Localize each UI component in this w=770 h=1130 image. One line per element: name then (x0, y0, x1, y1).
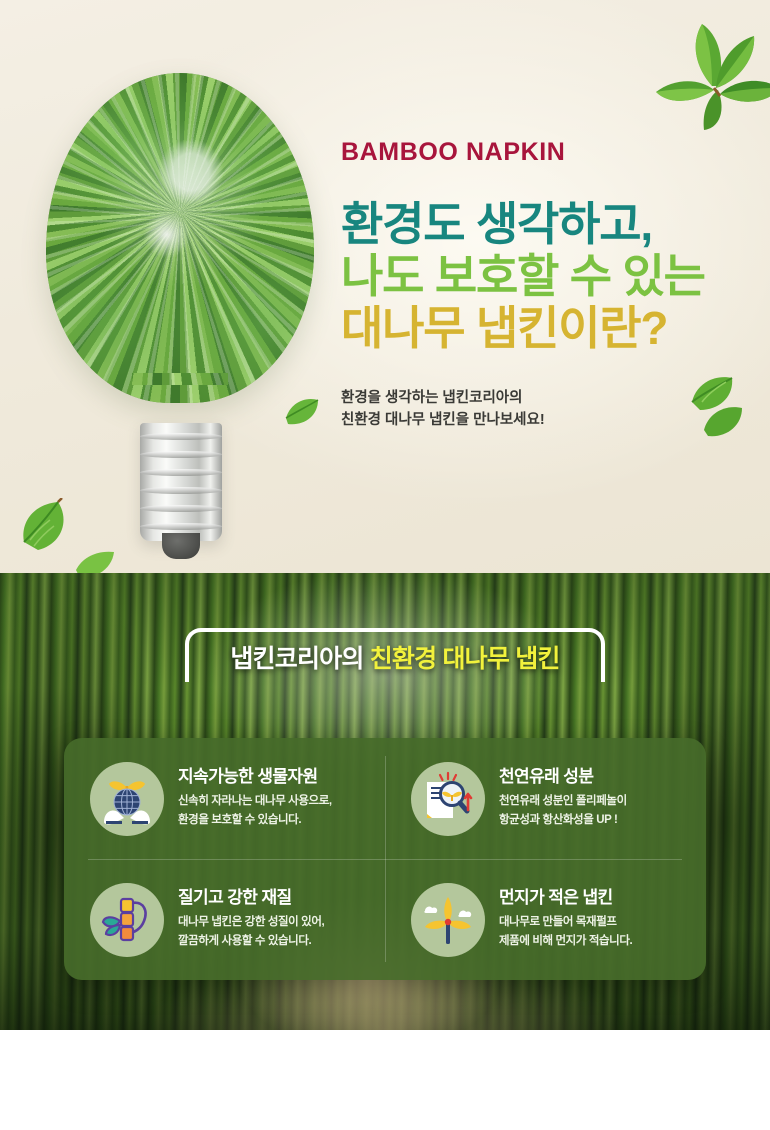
feature-desc-line-1: 대나무로 만들어 목재펄프 (499, 913, 632, 932)
feature-desc-line-2: 환경을 보호할 수 있습니다. (178, 811, 332, 830)
section-banner: 냅킨코리아의 친환경 대나무 냅킨 (185, 628, 605, 688)
grid-horizontal-divider (88, 859, 682, 860)
hero-headline: 환경도 생각하고, 나도 보호할 수 있는 대나무 냅킨이란? (341, 199, 741, 355)
feature-card-low-dust[interactable]: 먼지가 적은 냅킨 대나무로 만들어 목재펄프 제품에 비해 먼지가 적습니다. (385, 859, 706, 980)
leaf-cluster-top-right-icon (640, 0, 770, 130)
forest-canopy-photo (46, 73, 314, 403)
hero-subcopy: 환경을 생각하는 냅킨코리아의 친환경 대나무 냅킨을 만나보세요! (341, 387, 741, 432)
headline-line-1: 환경도 생각하고, (341, 199, 741, 251)
feature-title: 질기고 강한 재질 (178, 888, 324, 908)
feature-desc: 대나무 냅킨은 강한 성질이 있어, 깔끔하게 사용할 수 있습니다. (178, 913, 324, 951)
bulb-screw-base (140, 423, 222, 541)
feature-desc-line-2: 제품에 비해 먼지가 적습니다. (499, 932, 632, 951)
bulb-contact-tip (162, 533, 200, 559)
bulb-glass (46, 73, 314, 403)
feature-card-natural-ingredient[interactable]: 천연유래 성분 천연유래 성분인 폴리페놀이 항균성과 항산화성을 UP ! (385, 738, 706, 859)
feature-title: 천연유래 성분 (499, 767, 627, 787)
feature-card-body: 질기고 강한 재질 대나무 냅킨은 강한 성질이 있어, 깔끔하게 사용할 수 … (178, 888, 324, 951)
feature-desc: 대나무로 만들어 목재펄프 제품에 비해 먼지가 적습니다. (499, 913, 632, 951)
headline-line-2: 나도 보호할 수 있는 (341, 251, 741, 303)
feature-desc-line-1: 신속히 자라나는 대나무 사용으로, (178, 792, 332, 811)
product-detail-page: BAMBOO NAPKIN 환경도 생각하고, 나도 보호할 수 있는 대나무 … (0, 0, 770, 1130)
banner-title: 냅킨코리아의 친환경 대나무 냅킨 (185, 639, 605, 675)
feature-desc-line-2: 깔끔하게 사용할 수 있습니다. (178, 932, 324, 951)
feature-card-strong-material[interactable]: 질기고 강한 재질 대나무 냅킨은 강한 성질이 있어, 깔끔하게 사용할 수 … (64, 859, 385, 980)
hero-section: BAMBOO NAPKIN 환경도 생각하고, 나도 보호할 수 있는 대나무 … (0, 0, 770, 573)
subcopy-line-2: 친환경 대나무 냅킨을 만나보세요! (341, 409, 741, 431)
headline-line-3: 대나무 냅킨이란? (341, 303, 741, 355)
document-magnifier-sprout-icon (411, 762, 485, 836)
subcopy-line-1: 환경을 생각하는 냅킨코리아의 (341, 387, 741, 409)
leaf-bottom-left-icon (16, 498, 78, 554)
banner-title-highlight: 친환경 대나무 냅킨 (370, 645, 560, 673)
hero-eyebrow: BAMBOO NAPKIN (341, 140, 741, 165)
bamboo-stalk-leaf-icon (90, 883, 164, 957)
leaf-bottom-mid-icon (74, 548, 118, 573)
bamboo-lightbulb-image (28, 55, 328, 555)
feature-card-body: 지속가능한 생물자원 신속히 자라나는 대나무 사용으로, 환경을 보호할 수 … (178, 767, 332, 830)
feature-desc-line-1: 대나무 냅킨은 강한 성질이 있어, (178, 913, 324, 932)
feature-desc: 천연유래 성분인 폴리페놀이 항균성과 항산화성을 UP ! (499, 792, 627, 830)
feature-title: 지속가능한 생물자원 (178, 767, 332, 787)
feature-title: 먼지가 적은 냅킨 (499, 888, 632, 908)
hero-copy: BAMBOO NAPKIN 환경도 생각하고, 나도 보호할 수 있는 대나무 … (341, 140, 741, 432)
footer-whitespace (0, 1030, 770, 1130)
feature-panel: 지속가능한 생물자원 신속히 자라나는 대나무 사용으로, 환경을 보호할 수 … (64, 738, 706, 980)
feature-desc-line-2: 항균성과 항산화성을 UP ! (499, 811, 627, 830)
feature-desc-line-1: 천연유래 성분인 폴리페놀이 (499, 792, 627, 811)
feature-desc: 신속히 자라나는 대나무 사용으로, 환경을 보호할 수 있습니다. (178, 792, 332, 830)
globe-hands-sprout-icon (90, 762, 164, 836)
leaf-small-mid-icon (282, 392, 322, 432)
feature-card-sustainable-resource[interactable]: 지속가능한 생물자원 신속히 자라나는 대나무 사용으로, 환경을 보호할 수 … (64, 738, 385, 859)
banner-title-white: 냅킨코리아의 (230, 645, 369, 673)
feature-card-body: 먼지가 적은 냅킨 대나무로 만들어 목재펄프 제품에 비해 먼지가 적습니다. (499, 888, 632, 951)
windmill-petals-cloud-icon (411, 883, 485, 957)
feature-card-body: 천연유래 성분 천연유래 성분인 폴리페놀이 항균성과 항산화성을 UP ! (499, 767, 627, 830)
